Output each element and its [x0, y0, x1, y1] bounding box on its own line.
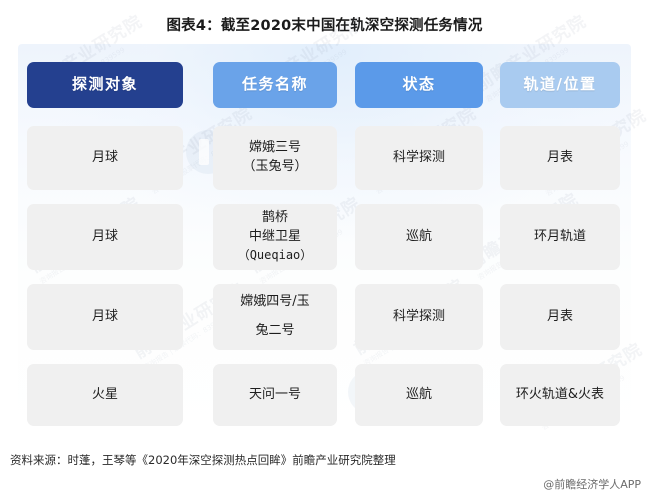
table-row: 月表	[500, 126, 620, 190]
cell-probe-target: 月球	[92, 228, 118, 247]
cell-status: 科学探测	[393, 308, 445, 327]
table-header-orbit-position[interactable]: 轨道/位置	[500, 62, 620, 108]
table-row: 环火轨道&火表	[500, 364, 620, 426]
cell-mission-name: 天问一号	[249, 386, 301, 405]
header-label: 探测对象	[72, 74, 138, 96]
table-header-status[interactable]: 状态	[355, 62, 483, 108]
table-row: 月球	[27, 126, 183, 190]
table-panel: 前瞻产业研究院咨询报告 | 股票代码：839599 前瞻产业研究院咨询报告 | …	[18, 44, 631, 434]
table-row: 巡航	[355, 364, 483, 426]
table-row: 环月轨道	[500, 204, 620, 270]
mission-table: 探测对象 任务名称 状态 轨道/位置 月球 嫦娥三号 （玉兔号）	[18, 44, 631, 434]
table-row: 火星	[27, 364, 183, 426]
table-row: 巡航	[355, 204, 483, 270]
table-row: 鹊桥 中继卫星 （Queqiao）	[213, 204, 337, 270]
table-header-probe-target[interactable]: 探测对象	[27, 62, 183, 108]
header-label: 状态	[402, 74, 435, 96]
cell-status: 巡航	[406, 228, 432, 247]
cell-status: 巡航	[406, 386, 432, 405]
table-header-mission-name[interactable]: 任务名称	[213, 62, 337, 108]
cell-mission-name: 嫦娥四号/玉 兔二号	[240, 293, 309, 341]
table-row: 嫦娥三号 （玉兔号）	[213, 126, 337, 190]
table-row: 月球	[27, 284, 183, 350]
header-label: 任务名称	[242, 74, 308, 96]
table-row: 月球	[27, 204, 183, 270]
table-row: 科学探测	[355, 126, 483, 190]
cell-orbit: 环月轨道	[534, 228, 586, 247]
cell-orbit: 月表	[547, 308, 573, 327]
cell-orbit: 环火轨道&火表	[516, 386, 604, 405]
table-row: 月表	[500, 284, 620, 350]
cell-probe-target: 火星	[92, 386, 118, 405]
cell-probe-target: 月球	[92, 308, 118, 327]
cell-probe-target: 月球	[92, 149, 118, 168]
app-watermark: @前瞻经济学人APP	[543, 476, 641, 492]
page-title: 图表4：截至2020末中国在轨深空探测任务情况	[0, 14, 649, 35]
chart-image: 图表4：截至2020末中国在轨深空探测任务情况 前瞻产业研究院咨询报告 | 股票…	[0, 0, 649, 497]
source-note: 资料来源：时蓬，王琴等《2020年深空探测热点回眸》前瞻产业研究院整理	[10, 452, 396, 468]
table-row: 科学探测	[355, 284, 483, 350]
header-label: 轨道/位置	[524, 74, 597, 96]
table-row: 嫦娥四号/玉 兔二号	[213, 284, 337, 350]
cell-status: 科学探测	[393, 149, 445, 168]
cell-mission-name: 嫦娥三号 （玉兔号）	[242, 139, 307, 177]
cell-mission-name: 鹊桥 中继卫星 （Queqiao）	[238, 209, 313, 264]
cell-orbit: 月表	[547, 149, 573, 168]
table-row: 天问一号	[213, 364, 337, 426]
